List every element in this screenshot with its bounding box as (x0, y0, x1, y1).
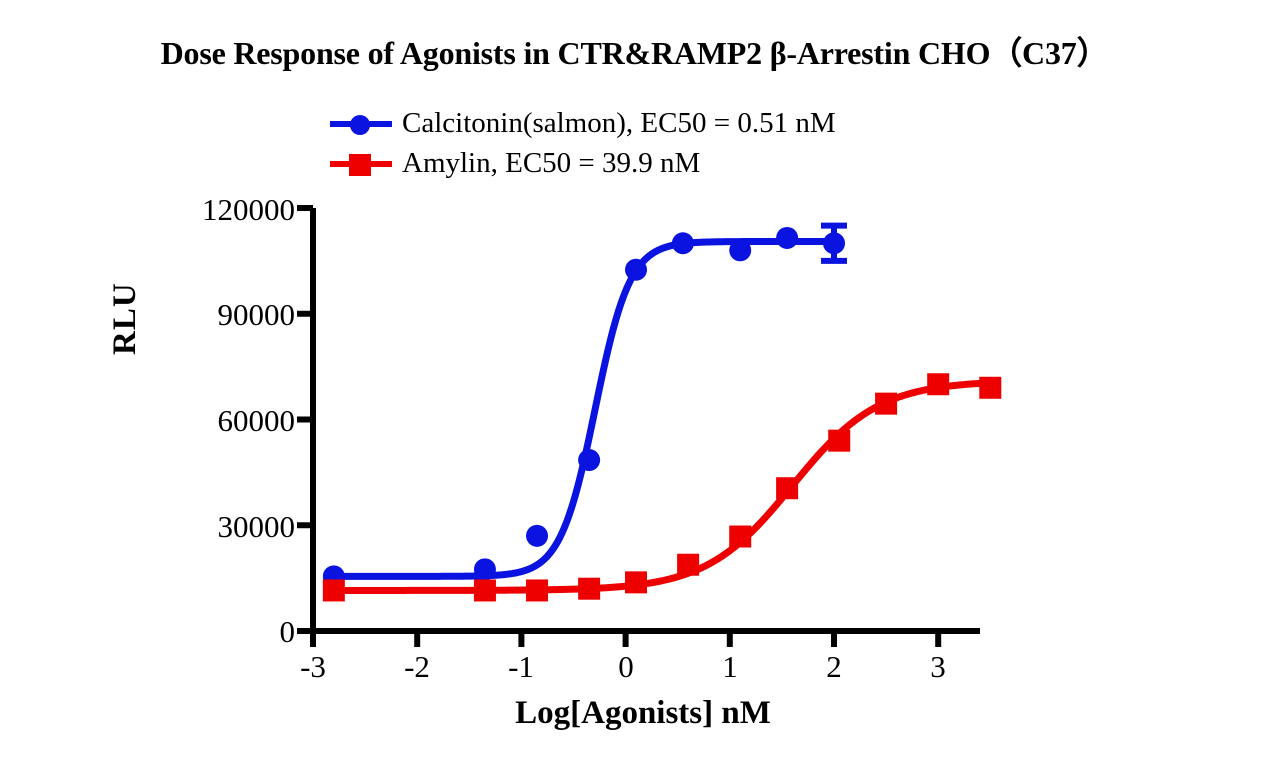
data-point-marker[interactable] (578, 578, 600, 600)
data-point-marker[interactable] (323, 579, 345, 601)
y-tick-label-30000: 30000 (135, 509, 295, 545)
data-point-marker[interactable] (578, 449, 600, 471)
data-point-marker[interactable] (776, 477, 798, 499)
x-tick-label-minus1: -1 (491, 649, 551, 685)
data-point-marker[interactable] (979, 377, 1001, 399)
data-point-marker[interactable] (927, 373, 949, 395)
data-point-marker[interactable] (776, 227, 798, 249)
data-point-marker[interactable] (474, 579, 496, 601)
x-tick-label-0: 0 (596, 649, 656, 685)
data-point-marker[interactable] (625, 571, 647, 593)
data-point-marker[interactable] (474, 558, 496, 580)
x-tick-label-2: 2 (804, 649, 864, 685)
y-tick-label-120000: 120000 (135, 192, 295, 228)
data-point-marker[interactable] (828, 430, 850, 452)
data-point-marker[interactable] (823, 232, 845, 254)
data-point-marker[interactable] (729, 239, 751, 261)
data-point-marker[interactable] (526, 579, 548, 601)
y-tick-label-60000: 60000 (135, 403, 295, 439)
y-tick-label-0: 0 (135, 614, 295, 650)
y-axis-title: RLU (107, 282, 144, 355)
data-point-marker[interactable] (526, 525, 548, 547)
series-amylin (323, 373, 1001, 601)
data-point-marker[interactable] (625, 259, 647, 281)
data-point-marker[interactable] (677, 554, 699, 576)
data-point-marker[interactable] (729, 526, 751, 548)
x-tick-label-1: 1 (700, 649, 760, 685)
x-tick-label-3: 3 (908, 649, 968, 685)
series-calcitonin (323, 226, 847, 588)
y-tick-label-90000: 90000 (135, 297, 295, 333)
x-tick-label-minus3: -3 (283, 649, 343, 685)
x-tick-label-minus2: -2 (387, 649, 447, 685)
data-point-marker[interactable] (672, 232, 694, 254)
chart-page: Dose Response of Agonists in CTR&RAMP2 β… (0, 0, 1269, 773)
data-point-marker[interactable] (875, 393, 897, 415)
x-axis-title: Log[Agonists] nM (313, 695, 973, 732)
